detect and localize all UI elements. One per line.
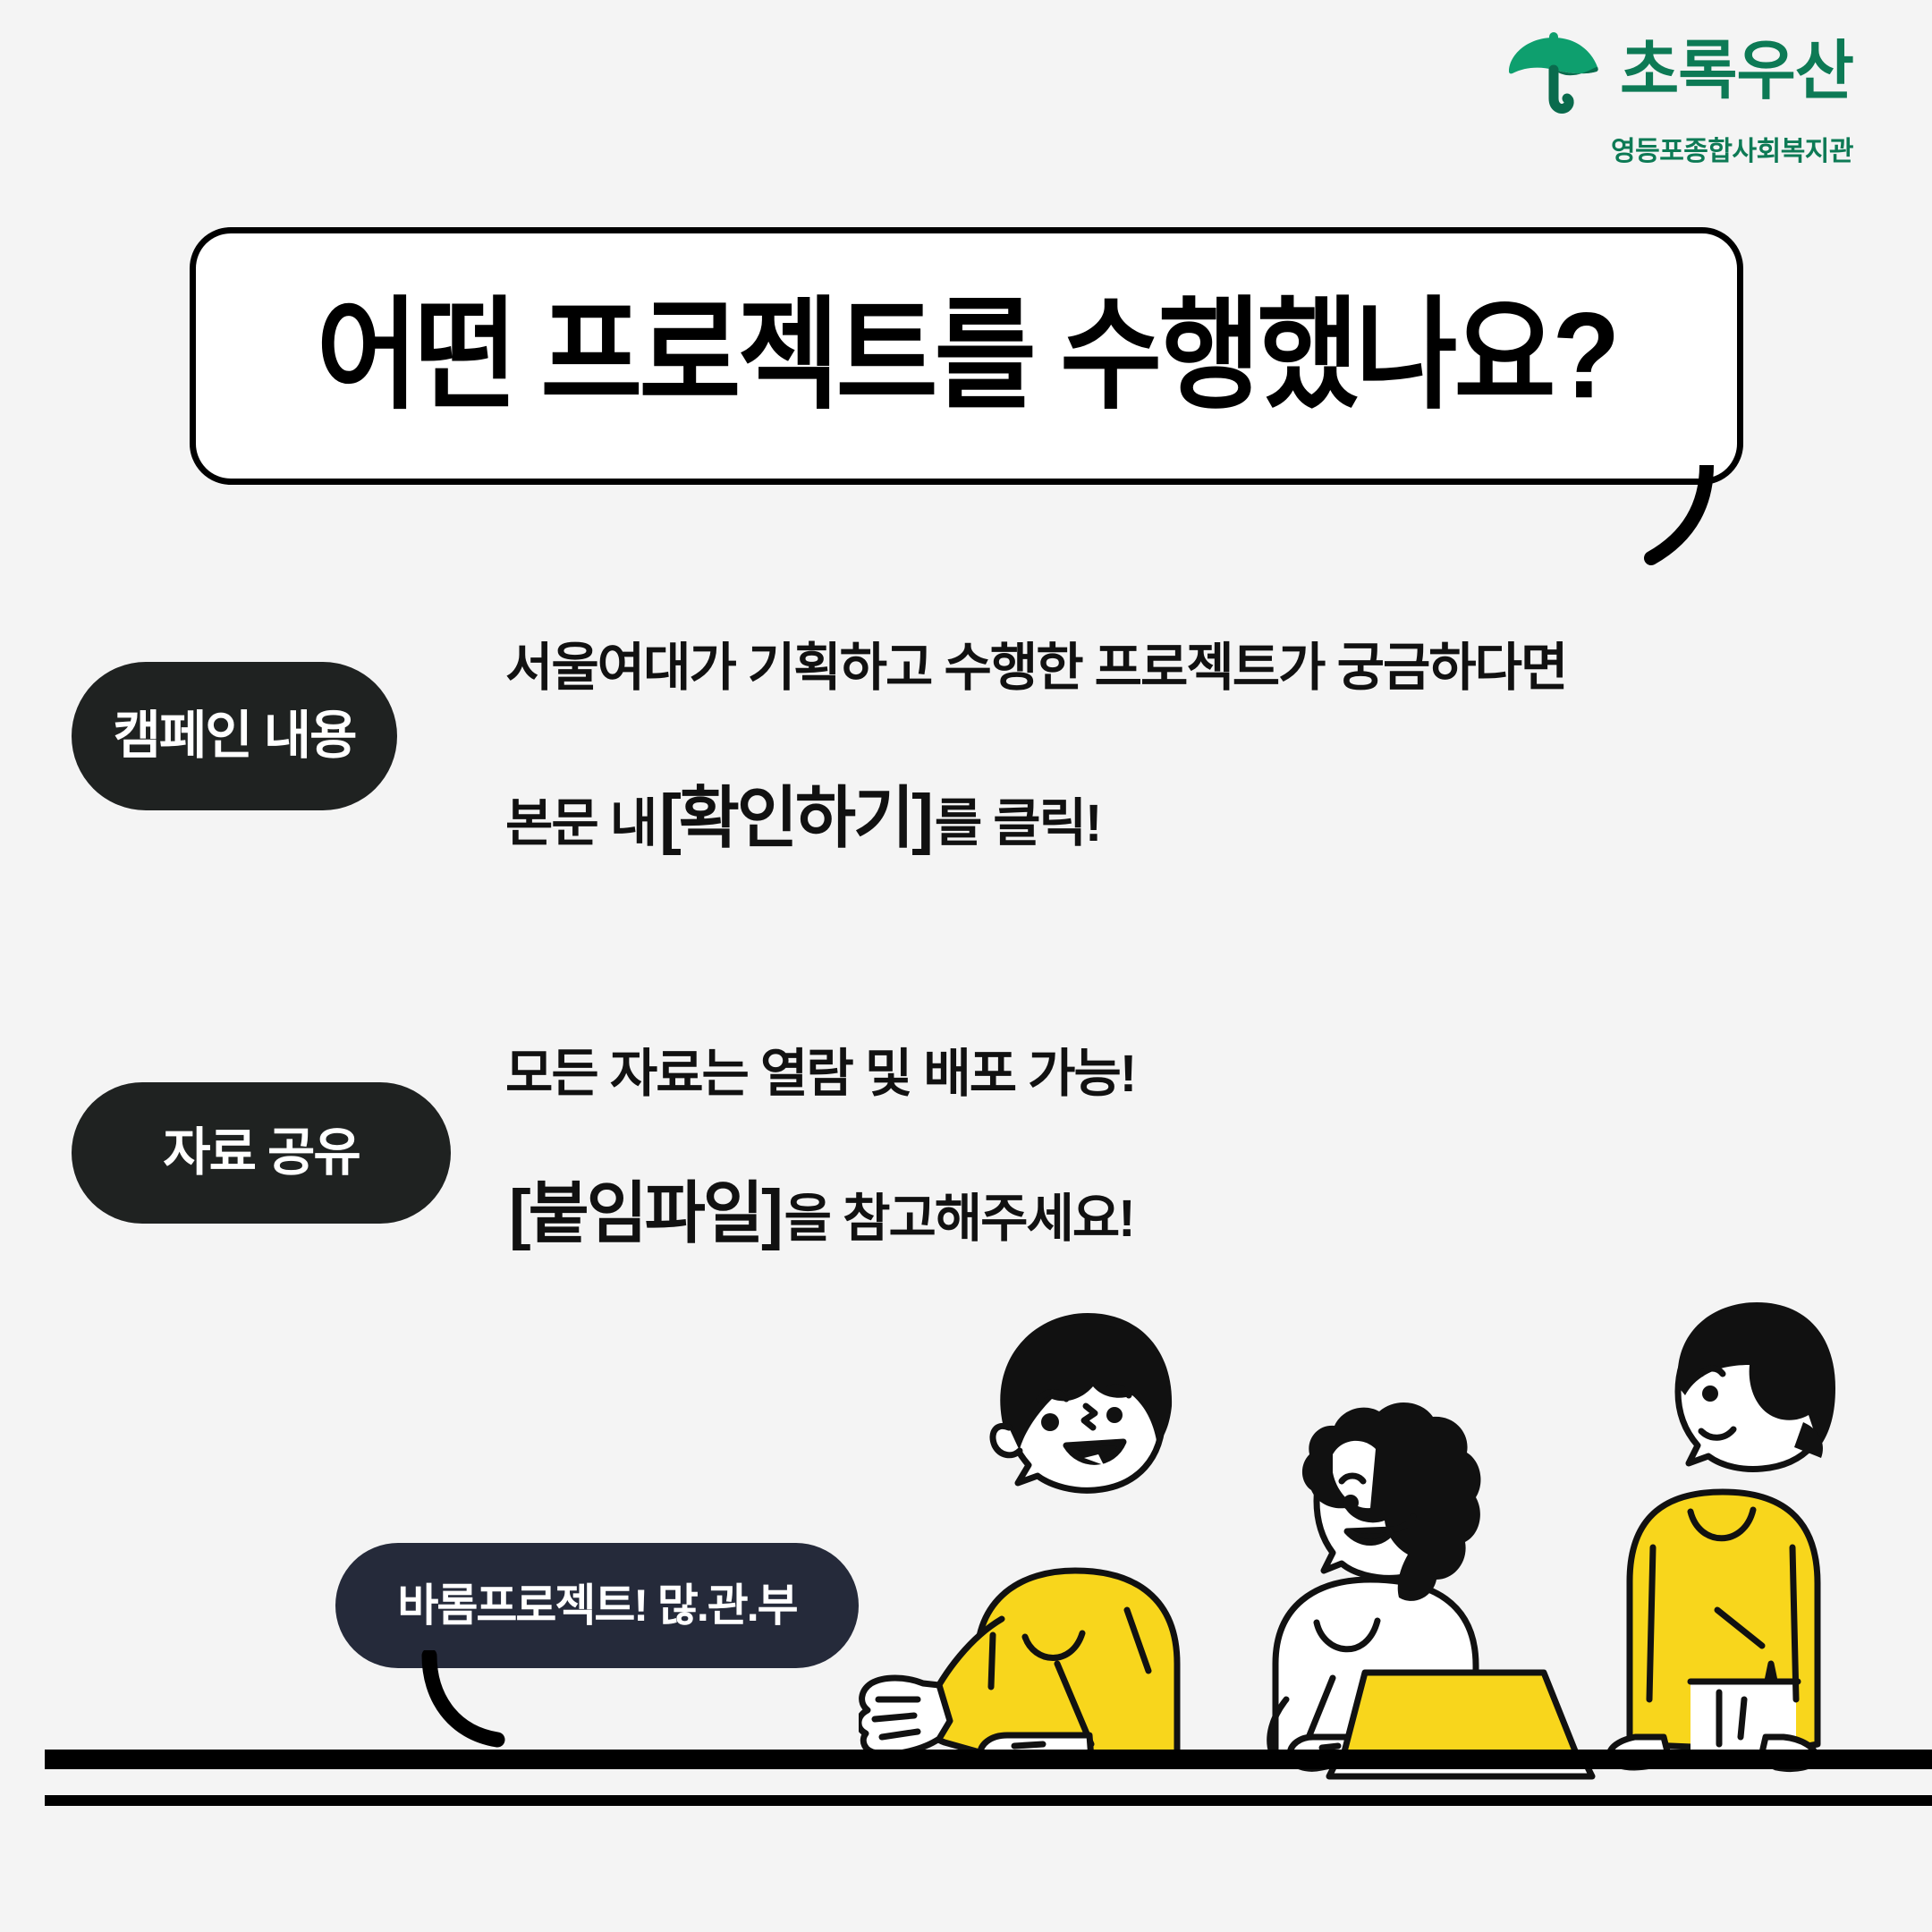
resource-sharing-line-2: [붙임파일] 을 참고해주세요! [505,1181,1134,1247]
people-at-desk-illustration [859,1279,1932,1798]
speech-bubble-text: 바롬프로젝트! 많.관.부 [397,1583,796,1628]
badge-resource-sharing: 자료 공유 [72,1082,451,1224]
person-right-standing [1609,1302,1835,1769]
badge-label: 캠페인 내용 [114,710,356,762]
badge-label: 자료 공유 [163,1127,360,1179]
resource-sharing-line-1: 모든 자료는 열람 및 배포 가능! [505,1048,1135,1100]
desk-line-thin [45,1795,1932,1806]
campaign-content-line-2: 본문 내 [확인하기] 를 클릭! [505,785,1100,852]
line2-highlight: [붙임파일] [505,1180,784,1247]
title-bubble-tail-icon [1610,465,1762,590]
brand-logo: 초록우산 영등포종합사회복지관 [1504,25,1853,168]
page-title: 어떤 프로젝트를 수행했나요? [317,295,1617,417]
desk-line-thick [45,1750,1932,1769]
logo-row: 초록우산 [1504,25,1853,118]
logo-wordmark: 초록우산 [1620,39,1853,104]
line2-highlight: [확인하기] [656,784,935,852]
logo-subtitle: 영등포종합사회복지관 [1611,129,1853,168]
title-speech-bubble: 어떤 프로젝트를 수행했나요? [190,227,1743,485]
poster-canvas: 초록우산 영등포종합사회복지관 어떤 프로젝트를 수행했나요? 캠페인 내용 서… [0,0,1932,1932]
speech-bubble-tail-icon [420,1650,563,1758]
line2-suffix: 를 클릭! [935,798,1101,850]
green-umbrella-icon [1504,25,1604,118]
person-left-pointing [859,1313,1177,1758]
badge-campaign-content: 캠페인 내용 [72,662,397,810]
line2-suffix: 을 참고해주세요! [784,1193,1134,1245]
campaign-content-line-1: 서울여대가 기획하고 수행한 프로젝트가 궁금하다면 [505,642,1566,694]
character-speech-bubble: 바롬프로젝트! 많.관.부 [335,1543,859,1668]
line2-prefix: 본문 내 [505,798,656,850]
